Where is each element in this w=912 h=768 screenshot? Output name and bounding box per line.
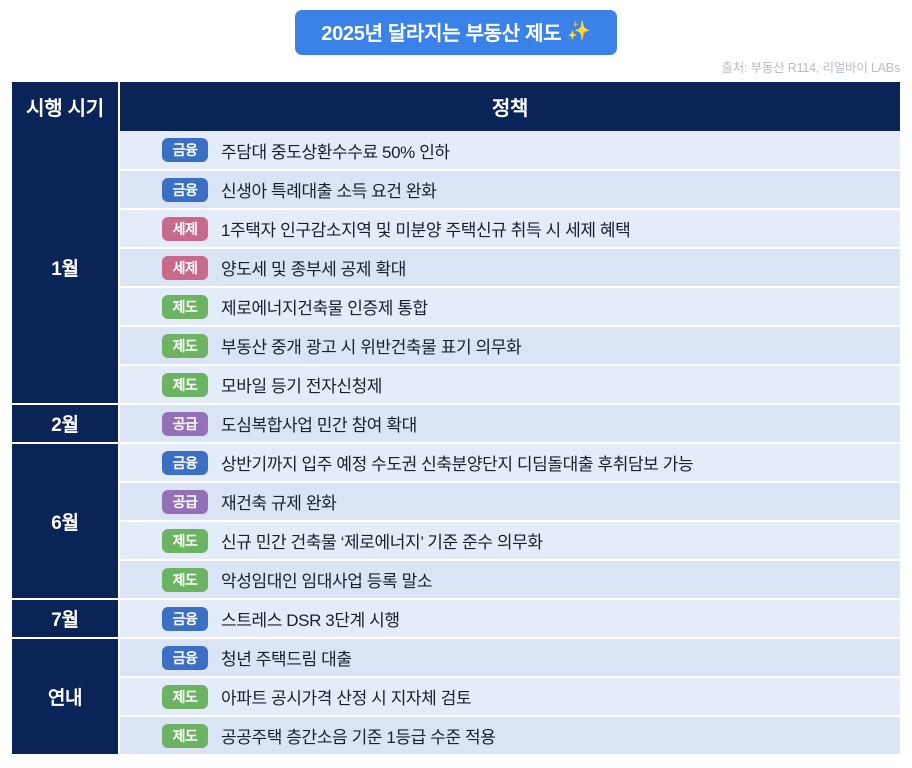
policy-cell-content: 제도모바일 등기 전자신청제: [162, 372, 900, 397]
category-tag-finance: 금융: [162, 451, 208, 475]
policy-cell-content: 공급도심복합사업 민간 참여 확대: [162, 411, 900, 436]
policy-text: 상반기까지 입주 예정 수도권 신축분양단지 디딤돌대출 후취담보 가능: [221, 450, 693, 475]
policy-cell: 세제1주택자 인구감소지역 및 미분양 주택신규 취득 시 세제 혜택: [119, 209, 900, 248]
category-tag-finance: 금융: [162, 607, 208, 631]
table-row: 7월금융스트레스 DSR 3단계 시행: [12, 599, 900, 638]
table-row: 제도아파트 공시가격 산정 시 지자체 검토: [12, 677, 900, 716]
period-cell: 6월: [12, 443, 119, 599]
policy-table-wrapper: 시행 시기 정책 1월금융주담대 중도상환수수료 50% 인하금융신생아 특례대…: [12, 82, 900, 756]
category-tag-tax: 세제: [162, 217, 208, 241]
policy-cell: 제도부동산 중개 광고 시 위반건축물 표기 의무화: [119, 326, 900, 365]
category-tag-finance: 금융: [162, 138, 208, 162]
column-header-policy: 정책: [119, 82, 900, 131]
policy-cell-content: 금융상반기까지 입주 예정 수도권 신축분양단지 디딤돌대출 후취담보 가능: [162, 450, 900, 475]
category-tag-system: 제도: [162, 334, 208, 358]
column-header-period: 시행 시기: [12, 82, 119, 131]
policy-cell: 공급도심복합사업 민간 참여 확대: [119, 404, 900, 443]
policy-cell-content: 제도제로에너지건축물 인증제 통합: [162, 294, 900, 319]
category-tag-system: 제도: [162, 529, 208, 553]
policy-text: 재건축 규제 완화: [221, 489, 336, 514]
policy-text: 모바일 등기 전자신청제: [221, 372, 382, 397]
policy-text: 1주택자 인구감소지역 및 미분양 주택신규 취득 시 세제 혜택: [221, 216, 630, 241]
policy-cell: 공급재건축 규제 완화: [119, 482, 900, 521]
category-tag-finance: 금융: [162, 178, 208, 202]
category-tag-supply: 공급: [162, 412, 208, 436]
policy-cell: 제도모바일 등기 전자신청제: [119, 365, 900, 404]
policy-cell: 제도신규 민간 건축물 ‘제로에너지’ 기준 준수 의무화: [119, 521, 900, 560]
policy-cell-content: 금융청년 주택드림 대출: [162, 645, 900, 670]
table-header: 시행 시기 정책: [12, 82, 900, 131]
policy-cell: 제도아파트 공시가격 산정 시 지자체 검토: [119, 677, 900, 716]
period-cell: 1월: [12, 131, 119, 404]
category-tag-tax: 세제: [162, 256, 208, 280]
table-header-row: 시행 시기 정책: [12, 82, 900, 131]
period-cell: 2월: [12, 404, 119, 443]
category-tag-system: 제도: [162, 295, 208, 319]
sparkles-icon: ✨: [567, 22, 590, 41]
table-row: 세제1주택자 인구감소지역 및 미분양 주택신규 취득 시 세제 혜택: [12, 209, 900, 248]
title-bar: 2025년 달라지는 부동산 제도 ✨: [0, 0, 912, 56]
table-row: 제도모바일 등기 전자신청제: [12, 365, 900, 404]
policy-cell-content: 제도공공주택 층간소음 기준 1등급 수준 적용: [162, 723, 900, 748]
policy-text: 도심복합사업 민간 참여 확대: [221, 411, 417, 436]
source-bar: 출처: 부동산 R114, 리얼바이 LABs: [0, 56, 912, 76]
category-tag-system: 제도: [162, 685, 208, 709]
policy-cell: 제도제로에너지건축물 인증제 통합: [119, 287, 900, 326]
table-row: 6월금융상반기까지 입주 예정 수도권 신축분양단지 디딤돌대출 후취담보 가능: [12, 443, 900, 482]
policy-cell: 제도공공주택 층간소음 기준 1등급 수준 적용: [119, 716, 900, 755]
table-row: 연내금융청년 주택드림 대출: [12, 638, 900, 677]
policy-text: 아파트 공시가격 산정 시 지자체 검토: [221, 684, 471, 709]
policy-cell: 금융주담대 중도상환수수료 50% 인하: [119, 131, 900, 170]
policy-text: 신규 민간 건축물 ‘제로에너지’ 기준 준수 의무화: [221, 528, 543, 553]
category-tag-finance: 금융: [162, 646, 208, 670]
page-title: 2025년 달라지는 부동산 제도: [321, 17, 561, 46]
policy-cell-content: 금융신생아 특례대출 소득 요건 완화: [162, 177, 900, 202]
period-cell: 연내: [12, 638, 119, 755]
category-tag-system: 제도: [162, 724, 208, 748]
policy-cell: 제도악성임대인 임대사업 등록 말소: [119, 560, 900, 599]
table-row: 공급재건축 규제 완화: [12, 482, 900, 521]
policy-cell-content: 공급재건축 규제 완화: [162, 489, 900, 514]
policy-text: 공공주택 층간소음 기준 1등급 수준 적용: [221, 723, 496, 748]
table-row: 제도부동산 중개 광고 시 위반건축물 표기 의무화: [12, 326, 900, 365]
category-tag-system: 제도: [162, 373, 208, 397]
policy-cell-content: 금융주담대 중도상환수수료 50% 인하: [162, 138, 900, 163]
table-row: 제도공공주택 층간소음 기준 1등급 수준 적용: [12, 716, 900, 755]
policy-cell-content: 제도부동산 중개 광고 시 위반건축물 표기 의무화: [162, 333, 900, 358]
policy-text: 신생아 특례대출 소득 요건 완화: [221, 177, 436, 202]
policy-cell: 금융신생아 특례대출 소득 요건 완화: [119, 170, 900, 209]
policy-text: 제로에너지건축물 인증제 통합: [221, 294, 428, 319]
policy-cell: 금융청년 주택드림 대출: [119, 638, 900, 677]
policy-text: 부동산 중개 광고 시 위반건축물 표기 의무화: [221, 333, 521, 358]
category-tag-supply: 공급: [162, 490, 208, 514]
policy-cell-content: 제도신규 민간 건축물 ‘제로에너지’ 기준 준수 의무화: [162, 528, 900, 553]
policy-text: 양도세 및 종부세 공제 확대: [221, 255, 406, 280]
policy-cell-content: 제도아파트 공시가격 산정 시 지자체 검토: [162, 684, 900, 709]
table-body: 1월금융주담대 중도상환수수료 50% 인하금융신생아 특례대출 소득 요건 완…: [12, 131, 900, 755]
table-row: 제도제로에너지건축물 인증제 통합: [12, 287, 900, 326]
infographic-page: 2025년 달라지는 부동산 제도 ✨ 출처: 부동산 R114, 리얼바이 L…: [0, 0, 912, 768]
table-row: 2월공급도심복합사업 민간 참여 확대: [12, 404, 900, 443]
policy-cell: 금융스트레스 DSR 3단계 시행: [119, 599, 900, 638]
policy-cell: 금융상반기까지 입주 예정 수도권 신축분양단지 디딤돌대출 후취담보 가능: [119, 443, 900, 482]
period-cell: 7월: [12, 599, 119, 638]
table-row: 1월금융주담대 중도상환수수료 50% 인하: [12, 131, 900, 170]
table-row: 제도악성임대인 임대사업 등록 말소: [12, 560, 900, 599]
policy-cell-content: 금융스트레스 DSR 3단계 시행: [162, 606, 900, 631]
policy-cell-content: 세제1주택자 인구감소지역 및 미분양 주택신규 취득 시 세제 혜택: [162, 216, 900, 241]
table-row: 금융신생아 특례대출 소득 요건 완화: [12, 170, 900, 209]
policy-cell-content: 세제양도세 및 종부세 공제 확대: [162, 255, 900, 280]
policy-text: 악성임대인 임대사업 등록 말소: [221, 567, 432, 592]
policy-text: 스트레스 DSR 3단계 시행: [221, 606, 400, 631]
page-title-badge: 2025년 달라지는 부동산 제도 ✨: [295, 10, 616, 55]
policy-table: 시행 시기 정책 1월금융주담대 중도상환수수료 50% 인하금융신생아 특례대…: [12, 82, 900, 756]
source-credit: 출처: 부동산 R114, 리얼바이 LABs: [721, 57, 900, 76]
policy-text: 청년 주택드림 대출: [221, 645, 352, 670]
category-tag-system: 제도: [162, 568, 208, 592]
policy-cell-content: 제도악성임대인 임대사업 등록 말소: [162, 567, 900, 592]
policy-cell: 세제양도세 및 종부세 공제 확대: [119, 248, 900, 287]
table-row: 세제양도세 및 종부세 공제 확대: [12, 248, 900, 287]
policy-text: 주담대 중도상환수수료 50% 인하: [221, 138, 450, 163]
table-row: 제도신규 민간 건축물 ‘제로에너지’ 기준 준수 의무화: [12, 521, 900, 560]
